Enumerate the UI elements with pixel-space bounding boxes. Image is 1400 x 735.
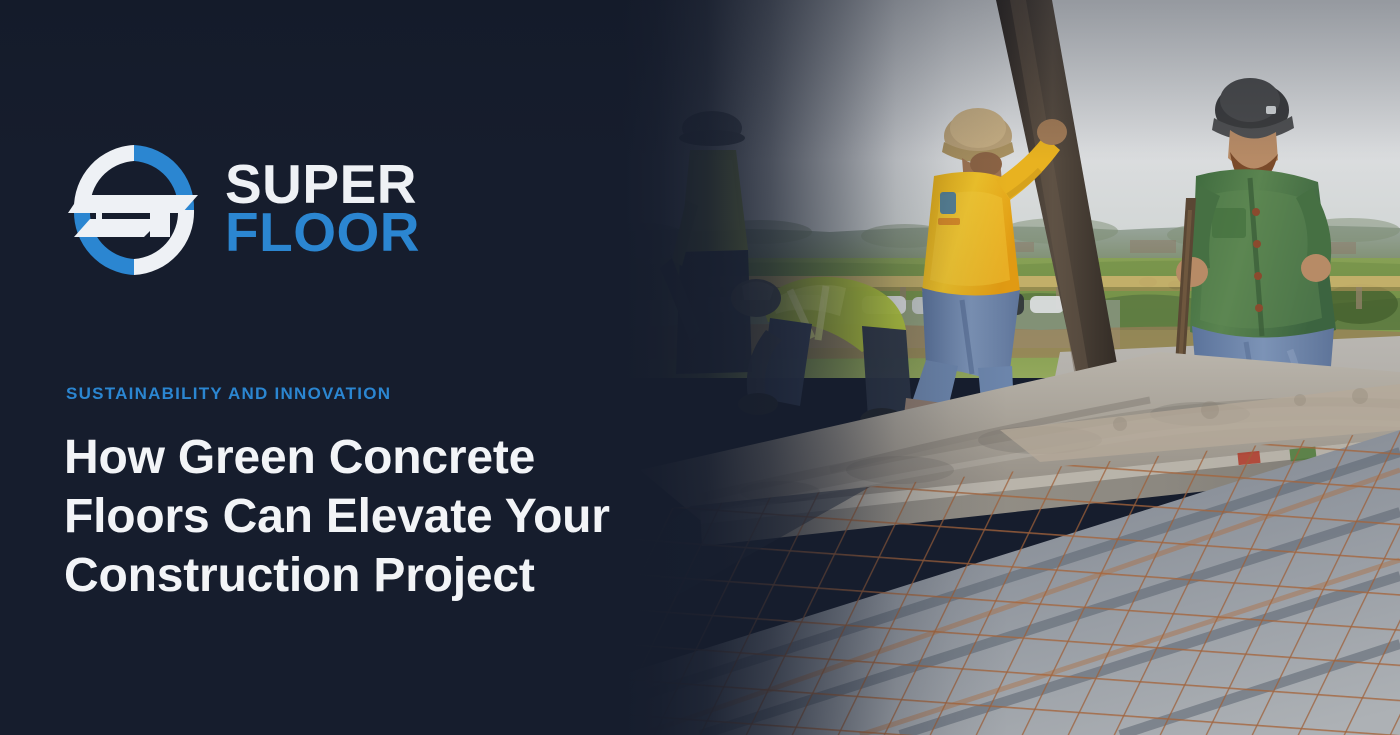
category-eyebrow: SUSTAINABILITY AND INNOVATION — [66, 384, 391, 404]
superfloor-circle-sf-monogram-icon — [66, 137, 202, 283]
hero-banner: SUPER FLOOR SUSTAINABILITY AND INNOVATIO… — [0, 0, 1400, 735]
wordmark-floor: FLOOR — [225, 208, 420, 256]
page-title: How Green Concrete Floors Can Elevate Yo… — [64, 428, 624, 605]
hero-content: SUPER FLOOR SUSTAINABILITY AND INNOVATIO… — [0, 0, 640, 735]
brand-logo[interactable]: SUPER FLOOR — [66, 137, 420, 283]
brand-wordmark: SUPER FLOOR — [225, 160, 420, 261]
